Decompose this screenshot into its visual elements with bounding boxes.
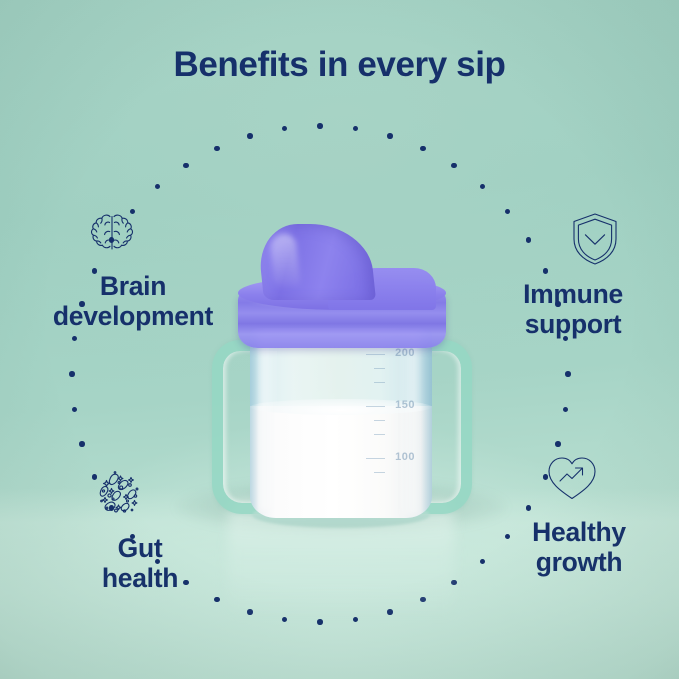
cup-edge-left [250,328,259,518]
shield-check-icon [480,208,679,270]
benefit-brain-development: Brain development [30,200,260,331]
brain-icon [0,200,227,262]
measure-mark-200: 200 [395,347,415,359]
measure-mark-100: 100 [395,451,415,463]
cup-highlight-left [260,334,276,510]
heart-growth-icon [457,446,679,508]
measurement-scale: 200 150 100 [353,344,415,480]
cup-edge-right [421,328,432,518]
page-title: Benefits in every sip [0,45,679,85]
benefit-immune-support: Immune support [440,208,670,339]
benefits-infographic: Benefits in every sip 200 150 [0,0,679,679]
benefit-label-healthy-growth: Healthy growth [464,517,679,577]
benefit-label-immune-support: Immune support [458,279,679,339]
probiotic-bacteria-icon [6,462,236,524]
benefit-label-brain-development: Brain development [18,271,248,331]
benefit-healthy-growth: Healthy growth [440,446,670,577]
cup-body: 200 150 100 [250,328,432,518]
benefit-gut-health: Gut health [14,462,244,593]
benefit-label-gut-health: Gut health [25,533,255,593]
measure-mark-150: 150 [395,399,415,411]
cup-spout [256,224,376,300]
